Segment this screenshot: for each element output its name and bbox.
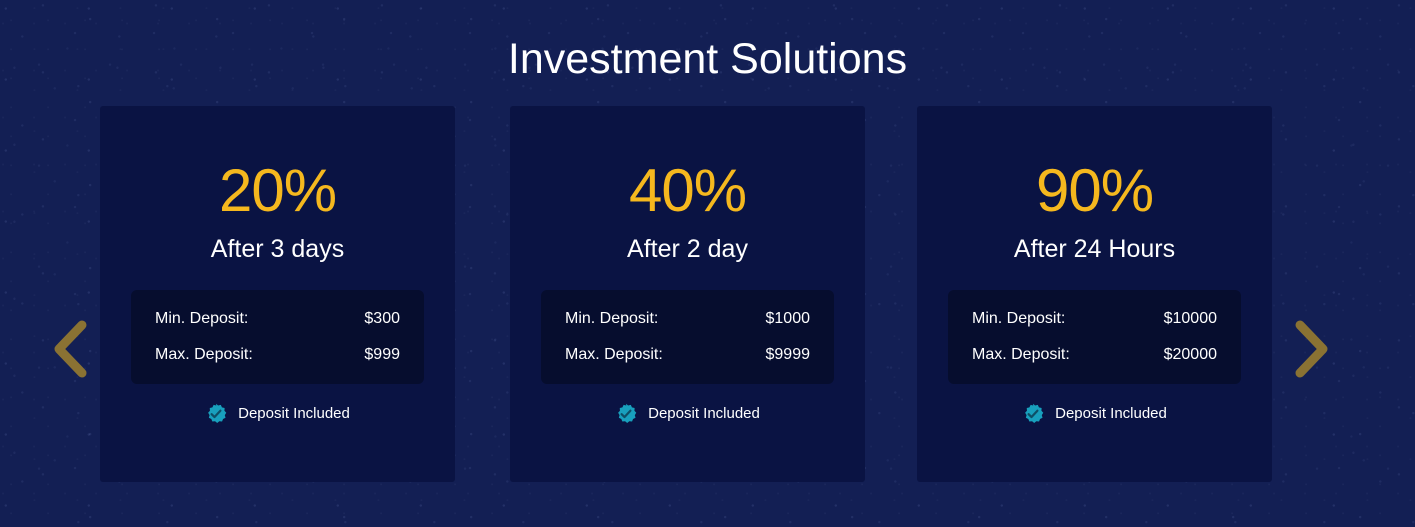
chevron-right-icon [1288, 318, 1334, 380]
min-deposit-value: $300 [364, 309, 400, 329]
plan-deposit-box: Min. Deposit: $10000 Max. Deposit: $2000… [948, 290, 1241, 384]
investment-plans-carousel: 20% After 3 days Min. Deposit: $300 Max.… [0, 106, 1415, 484]
min-deposit-row: Min. Deposit: $300 [155, 309, 400, 329]
max-deposit-label: Max. Deposit: [155, 345, 253, 365]
investment-plan-card[interactable]: 90% After 24 Hours Min. Deposit: $10000 … [917, 106, 1272, 482]
plan-term: After 3 days [100, 232, 455, 266]
min-deposit-label: Min. Deposit: [972, 309, 1065, 329]
deposit-included-row: Deposit Included [917, 403, 1272, 425]
max-deposit-value: $20000 [1164, 345, 1217, 365]
plan-percent: 20% [100, 155, 455, 227]
plan-percent: 40% [510, 155, 865, 227]
carousel-prev-button[interactable] [48, 318, 94, 380]
investment-solutions-section: Investment Solutions 20% After 3 days M [0, 0, 1415, 527]
verified-check-badge-icon [205, 403, 227, 425]
plan-percent: 90% [917, 155, 1272, 227]
plan-term: After 24 Hours [917, 232, 1272, 266]
min-deposit-row: Min. Deposit: $10000 [972, 309, 1217, 329]
max-deposit-value: $999 [364, 345, 400, 365]
min-deposit-row: Min. Deposit: $1000 [565, 309, 810, 329]
deposit-included-label: Deposit Included [648, 404, 760, 424]
min-deposit-value: $10000 [1164, 309, 1217, 329]
max-deposit-row: Max. Deposit: $999 [155, 345, 400, 365]
investment-plan-card[interactable]: 40% After 2 day Min. Deposit: $1000 Max.… [510, 106, 865, 482]
deposit-included-row: Deposit Included [510, 403, 865, 425]
carousel-next-button[interactable] [1288, 318, 1334, 380]
chevron-left-icon [48, 318, 94, 380]
plan-term: After 2 day [510, 232, 865, 266]
page-title: Investment Solutions [0, 31, 1415, 87]
investment-plan-card[interactable]: 20% After 3 days Min. Deposit: $300 Max.… [100, 106, 455, 482]
max-deposit-row: Max. Deposit: $9999 [565, 345, 810, 365]
deposit-included-label: Deposit Included [238, 404, 350, 424]
deposit-included-label: Deposit Included [1055, 404, 1167, 424]
plan-deposit-box: Min. Deposit: $300 Max. Deposit: $999 [131, 290, 424, 384]
max-deposit-value: $9999 [766, 345, 811, 365]
verified-check-badge-icon [1022, 403, 1044, 425]
min-deposit-label: Min. Deposit: [565, 309, 658, 329]
max-deposit-label: Max. Deposit: [972, 345, 1070, 365]
verified-check-badge-icon [615, 403, 637, 425]
min-deposit-value: $1000 [766, 309, 811, 329]
deposit-included-row: Deposit Included [100, 403, 455, 425]
max-deposit-row: Max. Deposit: $20000 [972, 345, 1217, 365]
plan-deposit-box: Min. Deposit: $1000 Max. Deposit: $9999 [541, 290, 834, 384]
min-deposit-label: Min. Deposit: [155, 309, 248, 329]
max-deposit-label: Max. Deposit: [565, 345, 663, 365]
